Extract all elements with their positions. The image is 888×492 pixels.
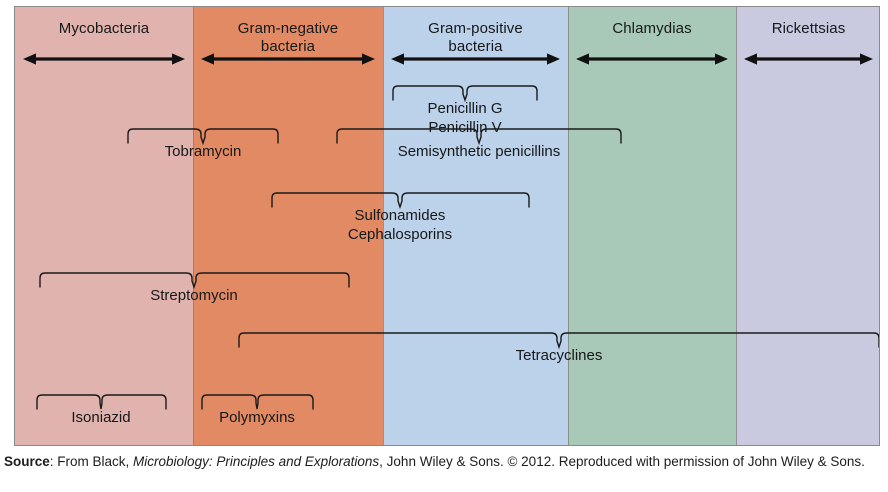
source-text-before: : From Black, xyxy=(50,454,133,469)
antimicrobial-spectrum-figure: Mycobacteria Gram-negative bacteria Gram… xyxy=(0,0,888,492)
group-label-gram-positive: Gram-positive bacteria xyxy=(383,20,568,56)
range-arrow-chlamydias xyxy=(576,52,728,66)
drug-label-sulfonamides: Sulfonamides Cephalosporins xyxy=(300,206,500,244)
group-label-line1: Gram-positive xyxy=(383,20,568,38)
group-label-line1: Rickettsias xyxy=(736,20,880,38)
band-divider xyxy=(568,7,569,445)
group-label-mycobacteria: Mycobacteria xyxy=(15,20,193,38)
drug-label-line1: Tobramycin xyxy=(103,142,303,161)
drug-label-tobramycin: Tobramycin xyxy=(103,142,303,161)
figure-source-caption: Source: From Black, Microbiology: Princi… xyxy=(4,452,884,472)
drug-label-semisynthetic-penicillins: Semisynthetic penicillins xyxy=(349,142,609,161)
group-label-line1: Gram-negative xyxy=(193,20,383,38)
group-label-chlamydias: Chlamydias xyxy=(568,20,736,38)
band-chlamydias xyxy=(568,7,736,445)
group-label-line1: Mycobacteria xyxy=(15,20,193,38)
drug-label-line2: Cephalosporins xyxy=(300,225,500,244)
drug-label-line1: Penicillin G xyxy=(364,99,566,118)
drug-label-line1: Sulfonamides xyxy=(300,206,500,225)
drug-label-line1: Polymyxins xyxy=(157,408,357,427)
source-text-after: , John Wiley & Sons. © 2012. Reproduced … xyxy=(379,454,865,469)
group-label-rickettsias: Rickettsias xyxy=(736,20,880,38)
group-label-line1: Chlamydias xyxy=(568,20,736,38)
source-book-title: Microbiology: Principles and Exploration… xyxy=(133,454,379,469)
drug-label-line1: Streptomycin xyxy=(94,286,294,305)
spectrum-panel: Mycobacteria Gram-negative bacteria Gram… xyxy=(14,6,880,446)
range-arrow-mycobacteria xyxy=(23,52,185,66)
group-label-gram-negative: Gram-negative bacteria xyxy=(193,20,383,56)
source-word: Source xyxy=(4,454,50,469)
drug-label-line1: Semisynthetic penicillins xyxy=(349,142,609,161)
band-rickettsias xyxy=(736,7,880,445)
drug-label-tetracyclines: Tetracyclines xyxy=(459,346,659,365)
range-arrow-rickettsias xyxy=(744,52,873,66)
drug-label-streptomycin: Streptomycin xyxy=(94,286,294,305)
drug-label-polymyxins: Polymyxins xyxy=(157,408,357,427)
band-divider xyxy=(193,7,194,445)
band-divider xyxy=(736,7,737,445)
drug-label-line1: Tetracyclines xyxy=(459,346,659,365)
band-mycobacteria xyxy=(15,7,193,445)
range-arrow-gram-negative xyxy=(201,52,375,66)
range-arrow-gram-positive xyxy=(391,52,560,66)
